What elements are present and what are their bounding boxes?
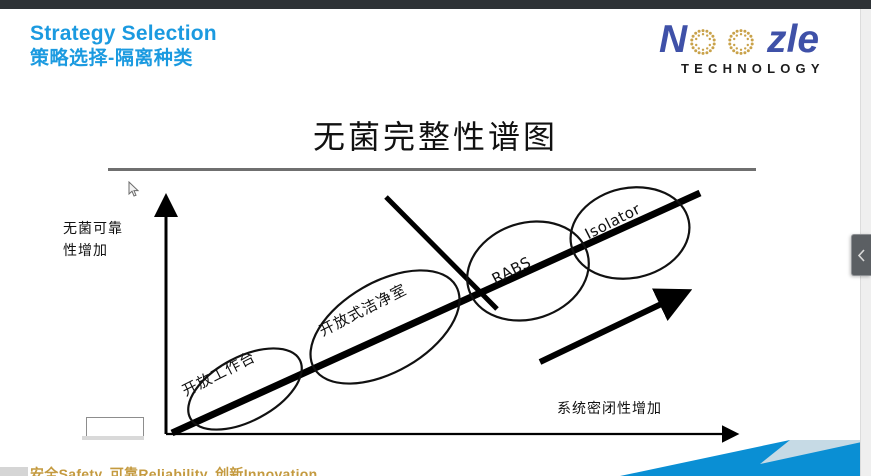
mouse-cursor bbox=[128, 181, 140, 198]
browser-top-bar bbox=[0, 0, 871, 9]
y-axis-label-line1: 无菌可靠 bbox=[63, 218, 159, 240]
chevron-left-icon bbox=[857, 249, 866, 262]
ellipse-isolator bbox=[562, 177, 698, 290]
closure-direction-arrow bbox=[540, 297, 676, 362]
x-axis-label: 系统密闭性增加 bbox=[557, 398, 662, 418]
sidebar-toggle-button[interactable] bbox=[851, 234, 871, 276]
slide-stage: Strategy Selection 策略选择-隔离种类 N bbox=[0, 9, 871, 476]
trend-line-main bbox=[172, 193, 700, 433]
y-axis-label: 无菌可靠 性增加 bbox=[63, 218, 159, 262]
slide-edge-chip bbox=[82, 436, 144, 440]
y-axis-label-line2: 性增加 bbox=[63, 240, 159, 262]
legend-box bbox=[86, 417, 144, 437]
